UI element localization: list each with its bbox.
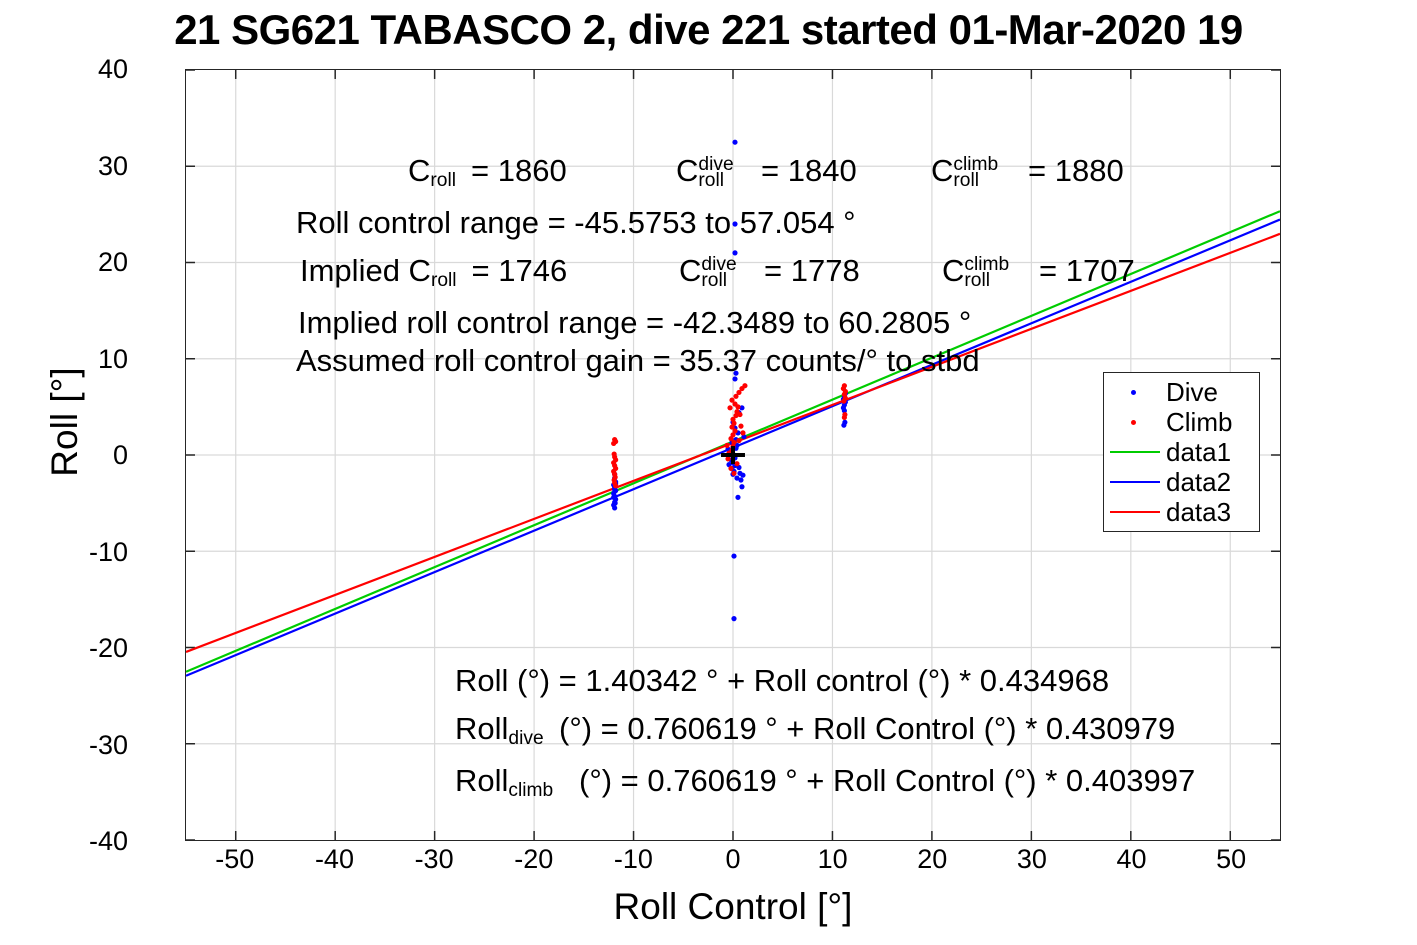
annotation-assumed-gain: Assumed roll control gain = 35.37 counts… bbox=[296, 342, 980, 380]
y-tick-label: 10 bbox=[8, 346, 128, 373]
legend-line-icon bbox=[1104, 467, 1166, 497]
figure-title: 21 SG621 TABASCO 2, dive 221 started 01-… bbox=[0, 2, 1417, 58]
legend-item-data2[interactable]: data2 bbox=[1104, 467, 1259, 497]
legend-label: data1 bbox=[1166, 437, 1231, 467]
dot-icon bbox=[1131, 390, 1136, 395]
annotation-c-roll-climb: Cclimbroll = 1880 bbox=[931, 152, 1124, 190]
equation-roll-all: Roll (°) = 1.40342 ° + Roll control (°) … bbox=[455, 662, 1109, 700]
line-icon bbox=[1110, 511, 1160, 513]
x-axis-label: Roll Control [°] bbox=[185, 885, 1281, 929]
line-icon bbox=[1110, 481, 1160, 483]
legend-line-icon bbox=[1104, 437, 1166, 467]
annotation-implied-c-roll-dive: Cdiveroll = 1778 bbox=[679, 252, 860, 290]
legend-dot-icon bbox=[1104, 377, 1166, 407]
figure-canvas: 21 SG621 TABASCO 2, dive 221 started 01-… bbox=[0, 0, 1417, 945]
legend-dot-icon bbox=[1104, 407, 1166, 437]
y-tick-label: -40 bbox=[8, 828, 128, 855]
line-icon bbox=[1110, 451, 1160, 453]
legend[interactable]: DiveClimbdata1data2data3 bbox=[1103, 372, 1260, 532]
dot-icon bbox=[1131, 420, 1136, 425]
y-tick-label: -10 bbox=[8, 539, 128, 566]
legend-item-data3[interactable]: data3 bbox=[1104, 497, 1259, 527]
legend-label: data3 bbox=[1166, 497, 1231, 527]
equation-roll-dive: Rolldive (°) = 0.760619 ° + Roll Control… bbox=[455, 710, 1175, 748]
legend-item-climb[interactable]: Climb bbox=[1104, 407, 1259, 437]
legend-item-dive[interactable]: Dive bbox=[1104, 377, 1259, 407]
y-tick-label: 40 bbox=[8, 56, 128, 83]
annotation-implied-c-roll-climb: Cclimbroll = 1707 bbox=[942, 252, 1135, 290]
annotation-c-roll-dive: Cdiveroll = 1840 bbox=[676, 152, 857, 190]
legend-item-data1[interactable]: data1 bbox=[1104, 437, 1259, 467]
legend-label: data2 bbox=[1166, 467, 1231, 497]
x-tick-label: 50 bbox=[1171, 846, 1291, 873]
annotation-implied-range: Implied roll control range = -42.3489 to… bbox=[298, 304, 971, 342]
y-tick-label: -30 bbox=[8, 732, 128, 759]
annotation-implied-c-roll: Implied Croll = 1746 bbox=[300, 252, 567, 290]
y-tick-label: 20 bbox=[8, 249, 128, 276]
legend-label: Climb bbox=[1166, 407, 1232, 437]
y-axis-label: Roll [°] bbox=[45, 292, 85, 552]
y-tick-label: -20 bbox=[8, 635, 128, 662]
legend-line-icon bbox=[1104, 497, 1166, 527]
annotation-c-roll: Croll = 1860 bbox=[408, 152, 567, 190]
legend-label: Dive bbox=[1166, 377, 1218, 407]
y-tick-label: 0 bbox=[8, 442, 128, 469]
annotation-roll-control-range: Roll control range = -45.5753 to 57.054 … bbox=[296, 204, 856, 242]
equation-roll-climb: Rollclimb (°) = 0.760619 ° + Roll Contro… bbox=[455, 762, 1195, 800]
y-tick-label: 30 bbox=[8, 153, 128, 180]
